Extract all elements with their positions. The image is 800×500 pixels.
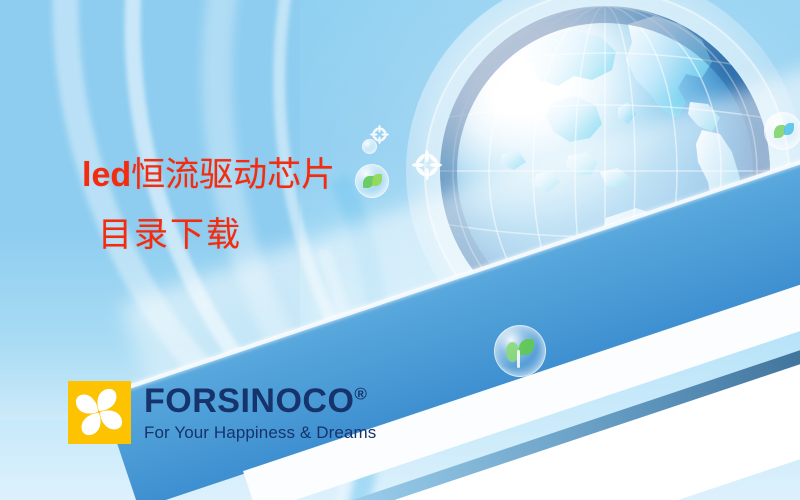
brand-name: FORSINOCO® [144, 384, 376, 418]
four-petal-pinwheel-icon [68, 381, 131, 444]
headline-line-2: 目录下载 [98, 218, 335, 252]
headline-line-1: led恒流驱动芯片 [82, 158, 335, 192]
headline-cjk: 恒流驱动芯片 [131, 155, 335, 195]
headline-text: led恒流驱动芯片 目录下载 [82, 158, 335, 252]
headline-latin: led [82, 156, 131, 194]
bubble-right-edge [764, 112, 800, 150]
sparkle-large [412, 150, 442, 185]
brand-text: FORSINOCO [144, 382, 354, 420]
bubble-leaf-mid [355, 164, 389, 198]
registered-trademark-icon: ® [354, 385, 367, 404]
company-logo: FORSINOCO® For Your Happiness & Dreams [68, 381, 376, 444]
logo-wordmark: FORSINOCO® For Your Happiness & Dreams [144, 381, 376, 441]
sparkle-small [370, 125, 389, 149]
brand-tagline: For Your Happiness & Dreams [144, 424, 376, 441]
promo-banner: led恒流驱动芯片 目录下载 FORSINOCO® For Your Happi… [0, 0, 800, 500]
globe-graphic [440, 6, 770, 336]
globe-outer-ring [424, 0, 790, 356]
bubble-leaf-lower [494, 325, 546, 377]
